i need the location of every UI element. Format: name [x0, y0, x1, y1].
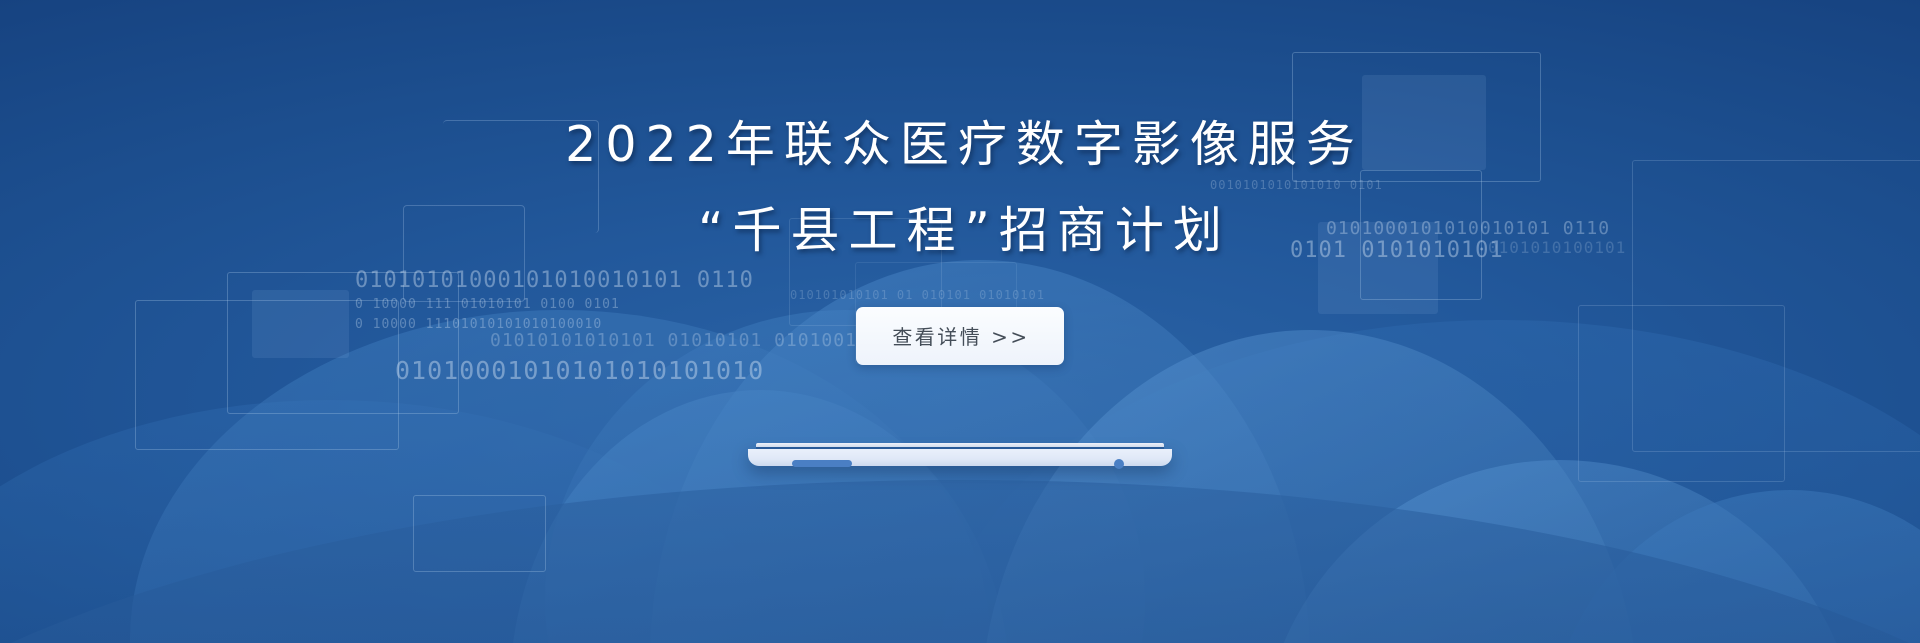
laptop-touch-strip	[792, 460, 852, 467]
view-details-button[interactable]: 查看详情 >>	[856, 307, 1063, 365]
banner-title-line-2: “千县工程”招商计划	[689, 206, 1231, 255]
banner-content: 2022年联众医疗数字影像服务 “千县工程”招商计划 查看详情 >>	[0, 0, 1920, 643]
laptop-base-body	[748, 449, 1172, 466]
promo-banner: 01010101000101010010101 0110 0 10000 111…	[0, 0, 1920, 643]
banner-title-line-1: 2022年联众医疗数字影像服务	[556, 120, 1364, 169]
laptop-graphic	[748, 443, 1172, 467]
laptop-power-dot-icon	[1114, 459, 1124, 469]
